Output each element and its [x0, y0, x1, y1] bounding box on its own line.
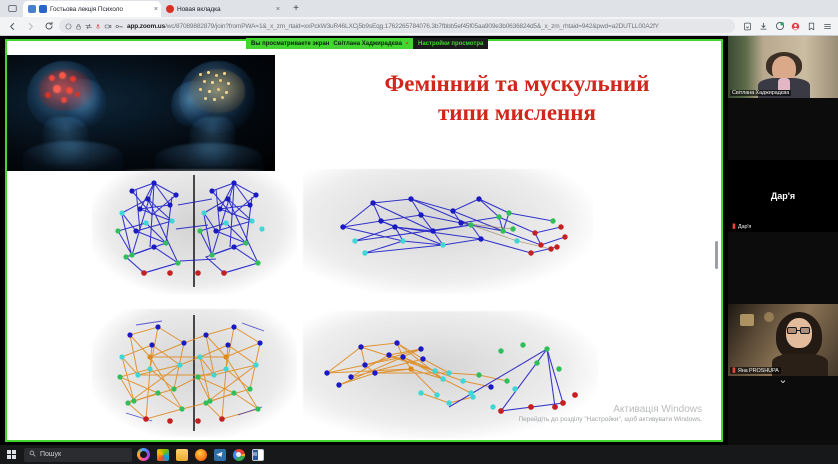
- recording-indicator-icon: •: [406, 41, 408, 47]
- save-page-icon[interactable]: [742, 21, 753, 32]
- presentation-slide: Фемінний та мускульний типи мислення: [7, 41, 721, 440]
- profile-icon[interactable]: [790, 21, 801, 32]
- new-tab-favicon: [166, 5, 174, 13]
- participant-gallery: Світлана Хаджирадєва Дар'я ▮ Дар'я: [728, 36, 838, 445]
- participant-name-badge: Світлана Хаджирадєва: [730, 90, 791, 96]
- split-screen-icon[interactable]: [85, 23, 92, 30]
- taskbar-search-placeholder: Пошук: [40, 451, 61, 458]
- browser-tab-active[interactable]: Гостьова лекція Психоло ×: [23, 1, 161, 17]
- participant-name: Дар'я: [738, 224, 751, 230]
- word-icon[interactable]: W: [248, 445, 267, 464]
- participant-display-name: Дар'я: [728, 191, 838, 201]
- browser-chrome: Гостьова лекція Психоло × Новая вкладка …: [0, 0, 838, 36]
- browser-tab-new[interactable]: Новая вкладка ×: [161, 1, 283, 17]
- new-tab-button[interactable]: +: [289, 2, 303, 16]
- slide-title-line-2: типи мислення: [307, 99, 723, 128]
- windows-logo-icon: [7, 450, 16, 459]
- brain-bottom-sagittal-orange: [303, 311, 598, 439]
- back-icon[interactable]: [5, 19, 20, 34]
- windows-taskbar: Пошук W: [0, 445, 838, 464]
- tab-search-icon[interactable]: [3, 1, 21, 16]
- share-status: Вы просматриваете экран Світлана Хаджира…: [246, 38, 413, 49]
- reload-icon[interactable]: [41, 19, 56, 34]
- url-text: app.zoom.us/wc/87089882879/join?fromPWA=…: [127, 23, 729, 30]
- tab-title: Гостьова лекція Психоло: [50, 6, 149, 13]
- extensions-icon[interactable]: [774, 21, 785, 32]
- brain-bottom-axial-orange: [92, 309, 297, 437]
- lock-icon: [75, 23, 82, 30]
- chevron-down-icon[interactable]: ⌄: [728, 370, 838, 388]
- share-status-text: Вы просматриваете экран: [251, 41, 329, 47]
- microphone-icon[interactable]: [95, 23, 101, 30]
- participant-tile[interactable]: Світлана Хаджирадєва: [728, 36, 838, 98]
- shared-screen-scrollbar[interactable]: [715, 241, 718, 269]
- dual-heads-photo: [7, 55, 275, 171]
- tracking-prevention-icon: [65, 23, 72, 30]
- slide-title-line-1: Фемінний та мускульний: [307, 70, 723, 99]
- tab-close-icon[interactable]: ×: [274, 6, 280, 13]
- firefox-icon[interactable]: [191, 445, 210, 464]
- share-presenter-name: Світлана Хаджирадєва: [333, 41, 401, 47]
- permissions-key-icon: [115, 23, 124, 30]
- site-badge-icon: [39, 5, 47, 13]
- menu-icon[interactable]: [822, 21, 833, 32]
- start-button[interactable]: [0, 445, 22, 464]
- screen-root: Гостьова лекція Психоло × Новая вкладка …: [0, 0, 838, 464]
- mic-muted-icon: ▮: [732, 223, 736, 230]
- url-host: app.zoom.us: [127, 23, 165, 30]
- tab-strip: Гостьова лекція Психоло × Новая вкладка …: [0, 0, 838, 17]
- cortana-icon[interactable]: [134, 445, 153, 464]
- female-head-figure: [149, 59, 267, 169]
- participant-tile[interactable]: ▮ Яна PROSHUPA: [728, 304, 838, 376]
- tab-close-icon[interactable]: ×: [152, 6, 158, 13]
- url-path: /wc/87089882879/join?fromPWA=1&_x_zm_rta…: [165, 23, 659, 30]
- zoom-icon: [28, 5, 36, 13]
- male-head-figure: [13, 59, 131, 169]
- view-options-button[interactable]: Настройки просмотра: [413, 38, 488, 49]
- shared-screen-frame: Фемінний та мускульний типи мислення: [5, 39, 723, 442]
- slide-title: Фемінний та мускульний типи мислення: [307, 70, 723, 128]
- brain-top-axial-blue: [92, 169, 297, 294]
- participant-tile[interactable]: Дар'я ▮ Дар'я: [728, 160, 838, 232]
- forward-icon[interactable]: [23, 19, 38, 34]
- participant-video: [728, 304, 838, 376]
- address-bar[interactable]: app.zoom.us/wc/87089882879/join?fromPWA=…: [59, 19, 735, 33]
- chrome-icon[interactable]: [229, 445, 248, 464]
- taskbar-search-box[interactable]: Пошук: [24, 448, 132, 462]
- search-icon: [29, 450, 36, 459]
- shared-screen-stage: Фемінний та мускульний типи мислення: [0, 36, 728, 445]
- browser-toolbar: app.zoom.us/wc/87089882879/join?fromPWA=…: [0, 17, 838, 36]
- download-icon[interactable]: [758, 21, 769, 32]
- participant-name-badge: ▮ Дар'я: [730, 223, 753, 230]
- toolbar-right-icons: [738, 21, 833, 32]
- file-explorer-icon[interactable]: [172, 445, 191, 464]
- collections-icon[interactable]: [806, 21, 817, 32]
- brain-top-sagittal-blue: [303, 169, 593, 294]
- participant-video: [728, 36, 838, 98]
- tab-title: Новая вкладка: [177, 6, 271, 13]
- telegram-icon[interactable]: [210, 445, 229, 464]
- photos-icon[interactable]: [153, 445, 172, 464]
- participant-name: Світлана Хаджирадєва: [732, 90, 789, 96]
- camera-icon[interactable]: [104, 23, 112, 30]
- screen-share-banner: Вы просматриваете экран Світлана Хаджира…: [246, 38, 488, 49]
